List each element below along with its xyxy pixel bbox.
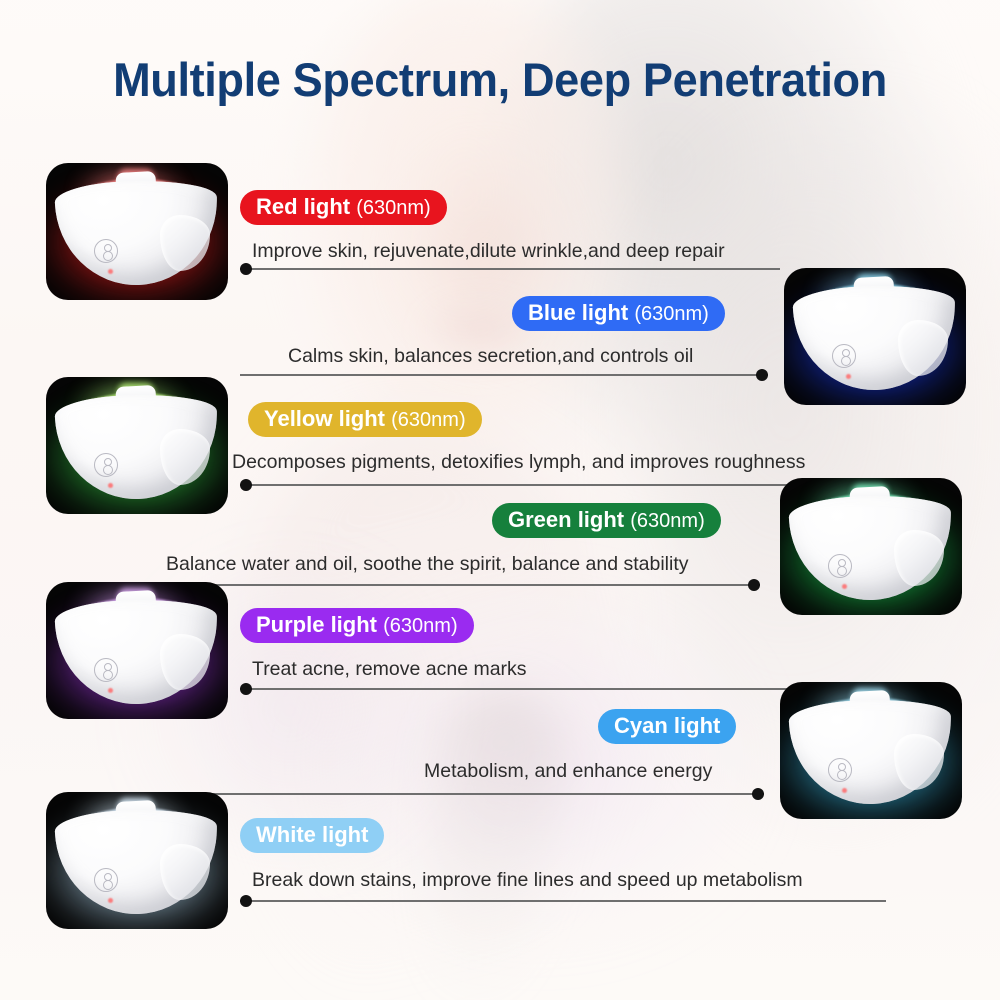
- connector-dot-yellow: [240, 479, 252, 491]
- badge-wrapper-yellow: Yellow light (630nm): [248, 402, 482, 437]
- badge-label-yellow: Yellow light: [264, 406, 385, 431]
- product-thumbnail-cyan[interactable]: [780, 682, 962, 819]
- mask-side-strap: [160, 429, 210, 485]
- badge-wavelength-red: (630nm): [356, 197, 430, 219]
- badge-label-purple: Purple light: [256, 612, 377, 637]
- connector-line-blue: [240, 368, 768, 382]
- product-thumbnail-yellow[interactable]: [46, 377, 228, 514]
- product-thumbnail-purple[interactable]: [46, 582, 228, 719]
- power-logo-icon[interactable]: [832, 344, 856, 368]
- power-logo-icon[interactable]: [94, 239, 118, 263]
- description-green: Balance water and oil, soothe the spirit…: [166, 553, 688, 576]
- badge-wavelength-green: (630nm): [630, 510, 704, 532]
- badge-label-green: Green light: [508, 507, 624, 532]
- badge-white[interactable]: White light: [240, 818, 384, 853]
- power-logo-icon[interactable]: [828, 554, 852, 578]
- badge-wrapper-green: Green light (630nm): [492, 503, 721, 538]
- connector-rule: [180, 584, 760, 586]
- mask-body-green: [790, 496, 952, 600]
- power-logo-icon[interactable]: [828, 758, 852, 782]
- power-logo-icon[interactable]: [94, 658, 118, 682]
- badge-purple[interactable]: Purple light (630nm): [240, 608, 474, 643]
- power-logo-icon[interactable]: [94, 868, 118, 892]
- mask-side-strap: [894, 530, 944, 586]
- indicator-led-icon: [108, 688, 113, 693]
- description-yellow: Decomposes pigments, detoxifies lymph, a…: [232, 451, 805, 474]
- indicator-led-icon: [108, 269, 113, 274]
- badge-yellow[interactable]: Yellow light (630nm): [248, 402, 482, 437]
- connector-line-green: [180, 578, 760, 592]
- badge-green[interactable]: Green light (630nm): [492, 503, 721, 538]
- connector-dot-cyan: [752, 788, 764, 800]
- indicator-led-icon: [842, 584, 847, 589]
- description-cyan: Metabolism, and enhance energy: [424, 760, 712, 783]
- connector-rule: [164, 793, 764, 795]
- connector-dot-red: [240, 263, 252, 275]
- connector-line-purple: [240, 682, 790, 696]
- mask-body-cyan: [790, 700, 952, 804]
- mask-body-purple: [56, 600, 218, 704]
- badge-label-white: White light: [256, 822, 368, 847]
- badge-wrapper-blue: Blue light (630nm): [512, 296, 725, 331]
- mask-side-strap: [898, 320, 948, 376]
- badge-red[interactable]: Red light (630nm): [240, 190, 447, 225]
- indicator-led-icon: [108, 483, 113, 488]
- badge-label-blue: Blue light: [528, 300, 628, 325]
- description-red: Improve skin, rejuvenate,dilute wrinkle,…: [252, 240, 725, 263]
- indicator-led-icon: [108, 898, 113, 903]
- mask-body-yellow: [56, 395, 218, 499]
- mask-side-strap: [160, 215, 210, 271]
- badge-wrapper-white: White light: [240, 818, 384, 853]
- connector-dot-blue: [756, 369, 768, 381]
- mask-side-strap: [894, 734, 944, 790]
- badge-wrapper-cyan: Cyan light: [598, 709, 736, 744]
- product-thumbnail-green[interactable]: [780, 478, 962, 615]
- mask-body-red: [56, 181, 218, 285]
- connector-rule: [240, 268, 780, 270]
- page-title: Multiple Spectrum, Deep Penetration: [20, 52, 980, 107]
- description-blue: Calms skin, balances secretion,and contr…: [288, 345, 693, 368]
- indicator-led-icon: [846, 374, 851, 379]
- connector-dot-green: [748, 579, 760, 591]
- mask-side-strap: [160, 634, 210, 690]
- description-white: Break down stains, improve fine lines an…: [252, 869, 803, 892]
- badge-cyan[interactable]: Cyan light: [598, 709, 736, 744]
- mask-body-blue: [794, 286, 956, 390]
- badge-wrapper-purple: Purple light (630nm): [240, 608, 474, 643]
- connector-line-white: [240, 894, 886, 908]
- badge-wavelength-purple: (630nm): [383, 615, 457, 637]
- product-thumbnail-blue[interactable]: [784, 268, 966, 405]
- badge-wavelength-yellow: (630nm): [391, 409, 465, 431]
- badge-label-cyan: Cyan light: [614, 713, 720, 738]
- badge-label-red: Red light: [256, 194, 350, 219]
- product-thumbnail-red[interactable]: [46, 163, 228, 300]
- connector-line-red: [240, 262, 780, 276]
- connector-dot-purple: [240, 683, 252, 695]
- badge-wavelength-blue: (630nm): [634, 303, 708, 325]
- mask-body-white: [56, 810, 218, 914]
- connector-line-cyan: [164, 787, 764, 801]
- power-logo-icon[interactable]: [94, 453, 118, 477]
- description-purple: Treat acne, remove acne marks: [252, 658, 527, 681]
- product-thumbnail-white[interactable]: [46, 792, 228, 929]
- mask-side-strap: [160, 844, 210, 900]
- connector-rule: [240, 688, 790, 690]
- badge-blue[interactable]: Blue light (630nm): [512, 296, 725, 331]
- connector-rule: [240, 900, 886, 902]
- connector-dot-white: [240, 895, 252, 907]
- connector-rule: [240, 374, 768, 376]
- badge-wrapper-red: Red light (630nm): [240, 190, 447, 225]
- indicator-led-icon: [842, 788, 847, 793]
